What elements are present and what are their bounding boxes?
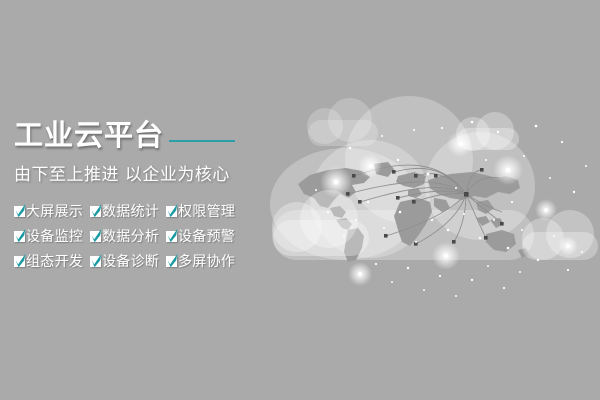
feature-label: 组态开发 — [26, 251, 83, 271]
feature-item[interactable]: 多屏协作 — [166, 251, 242, 271]
feature-item[interactable]: 数据分析 — [90, 226, 166, 246]
feature-label: 设备监控 — [26, 226, 83, 246]
check-icon — [166, 231, 177, 242]
feature-item[interactable]: 数据统计 — [90, 201, 166, 221]
feature-label: 大屏展示 — [26, 201, 83, 221]
check-icon — [90, 206, 101, 217]
check-icon — [90, 231, 101, 242]
cloud-world-network-illustration — [250, 70, 600, 310]
title-accent-rule — [169, 140, 235, 142]
feature-label: 数据统计 — [102, 201, 159, 221]
feature-item[interactable]: 组态开发 — [14, 251, 90, 271]
check-icon — [166, 206, 177, 217]
check-icon — [90, 256, 101, 267]
feature-label: 多屏协作 — [178, 251, 235, 271]
feature-item[interactable]: 设备预警 — [166, 226, 242, 246]
feature-label: 设备诊断 — [102, 251, 159, 271]
check-icon — [14, 206, 25, 217]
feature-item[interactable]: 权限管理 — [166, 201, 242, 221]
feature-item[interactable]: 大屏展示 — [14, 201, 90, 221]
check-icon — [14, 256, 25, 267]
feature-label: 权限管理 — [178, 201, 235, 221]
page-subtitle: 由下至上推进 以企业为核心 — [14, 160, 264, 185]
feature-label: 数据分析 — [102, 226, 159, 246]
title-row: 工业云平台 — [14, 118, 264, 152]
check-icon — [166, 256, 177, 267]
hero-text-block: 工业云平台 由下至上推进 以企业为核心 大屏展示 数据统计 — [14, 118, 264, 276]
check-icon — [14, 231, 25, 242]
page-title: 工业云平台 — [14, 118, 164, 152]
feature-list: 大屏展示 数据统计 权限管理 — [14, 201, 264, 271]
feature-row: 设备监控 数据分析 设备预警 — [14, 226, 264, 246]
feature-item[interactable]: 设备监控 — [14, 226, 90, 246]
feature-label: 设备预警 — [178, 226, 235, 246]
banner-root: 工业云平台 由下至上推进 以企业为核心 大屏展示 数据统计 — [0, 0, 600, 400]
sparkle-particles — [250, 70, 600, 310]
feature-row: 组态开发 设备诊断 多屏协作 — [14, 251, 264, 271]
feature-item[interactable]: 设备诊断 — [90, 251, 166, 271]
feature-row: 大屏展示 数据统计 权限管理 — [14, 201, 264, 221]
